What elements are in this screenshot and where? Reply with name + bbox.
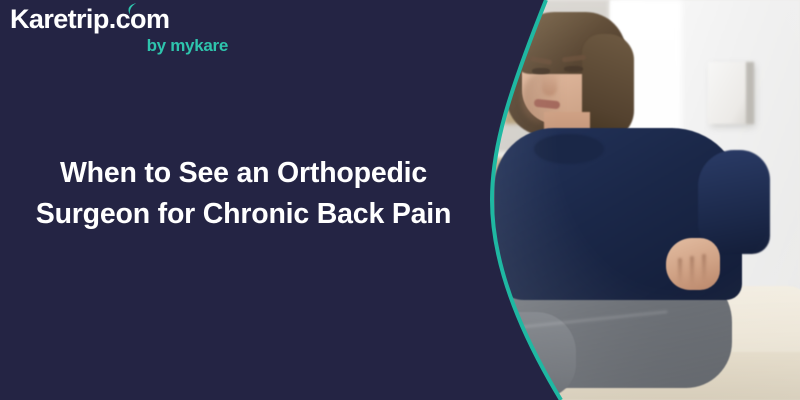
page-title-line-2: Surgeon for Chronic Back Pain (14, 194, 473, 234)
finger-2 (690, 256, 694, 286)
patient-figure (470, 0, 800, 400)
logo-wordmark-text: Karetrip.com (10, 4, 169, 34)
finger-1 (678, 258, 682, 284)
finger-3 (702, 254, 706, 282)
logo-tagline: by mykare (10, 37, 240, 54)
eye-right (564, 66, 583, 72)
logo-wordmark: Karetrip.com (10, 6, 240, 33)
article-hero-banner: Karetrip.com by mykare When to See an Or… (0, 0, 800, 400)
photo-canvas (470, 0, 800, 400)
page-title-line-1: When to See an Orthopedic (14, 153, 473, 193)
page-title: When to See an Orthopedic Surgeon for Ch… (0, 153, 487, 234)
leaf-icon (128, 3, 137, 15)
brand-logo[interactable]: Karetrip.com by mykare (10, 6, 240, 54)
sweater-collar (534, 134, 604, 164)
nose (542, 74, 557, 96)
hero-photo (470, 0, 800, 400)
forearm (698, 150, 770, 254)
